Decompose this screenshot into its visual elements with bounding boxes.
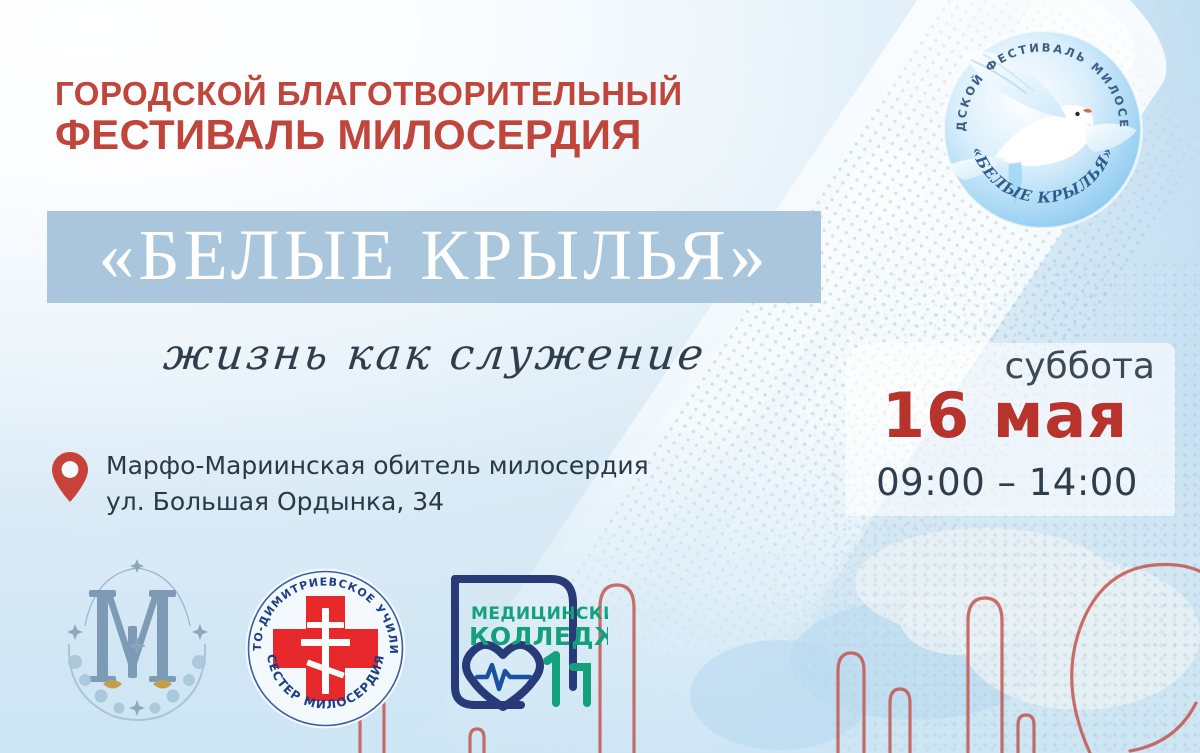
partner-logo-dimitrievskoe: СВЯТО-ДИМИТРИЕВСКОЕ УЧИЛИЩЕ СЕСТЕР МИЛОС… (243, 566, 408, 731)
headline-line-1: ГОРОДСКОЙ БЛАГОТВОРИТЕЛЬНЫЙ (55, 78, 815, 110)
festival-badge: ГОРОДСКОЙ ФЕСТИВАЛЬ МИЛОСЕРДИЯ «БЕЛЫЕ КР… (935, 22, 1150, 237)
festival-tagline: жизнь как служение (37, 330, 832, 380)
partner-logo-medical-college: МЕДИЦИНСКИЙ КОЛЛЕДЖ (443, 563, 608, 713)
college-line-2: КОЛЛЕДЖ (469, 622, 608, 651)
college-number-1 (547, 655, 556, 703)
festival-title: «БЕЛЫЕ КРЫЛЬЯ» (47, 214, 821, 297)
date-card: суббота 16 мая 09:00 – 14:00 (845, 343, 1175, 516)
venue-name: Марфо-Мариинская обитель милосердия (106, 448, 649, 484)
college-line-1: МЕДИЦИНСКИЙ (471, 602, 608, 624)
poster-canvas: ГОРОДСКОЙ БЛАГОТВОРИТЕЛЬНЫЙ ФЕСТИВАЛЬ МИ… (0, 0, 1200, 753)
date-time-range: 09:00 – 14:00 (845, 461, 1169, 504)
event-headline: ГОРОДСКОЙ БЛАГОТВОРИТЕЛЬНЫЙ ФЕСТИВАЛЬ МИ… (55, 78, 815, 155)
date-day-month: 16 мая (845, 385, 1165, 447)
venue-address: Марфо-Мариинская обитель милосердия ул. … (106, 448, 649, 519)
partner-logo-monogram (45, 556, 230, 741)
festival-title-band: «БЕЛЫЕ КРЫЛЬЯ» (47, 211, 821, 303)
venue-block: Марфо-Мариинская обитель милосердия ул. … (52, 448, 649, 519)
monogram-wreath-icon (67, 559, 208, 720)
location-pin-icon (52, 452, 88, 502)
headline-line-2: ФЕСТИВАЛЬ МИЛОСЕРДИЯ (55, 114, 815, 155)
venue-street: ул. Большая Ордынка, 34 (106, 484, 649, 520)
